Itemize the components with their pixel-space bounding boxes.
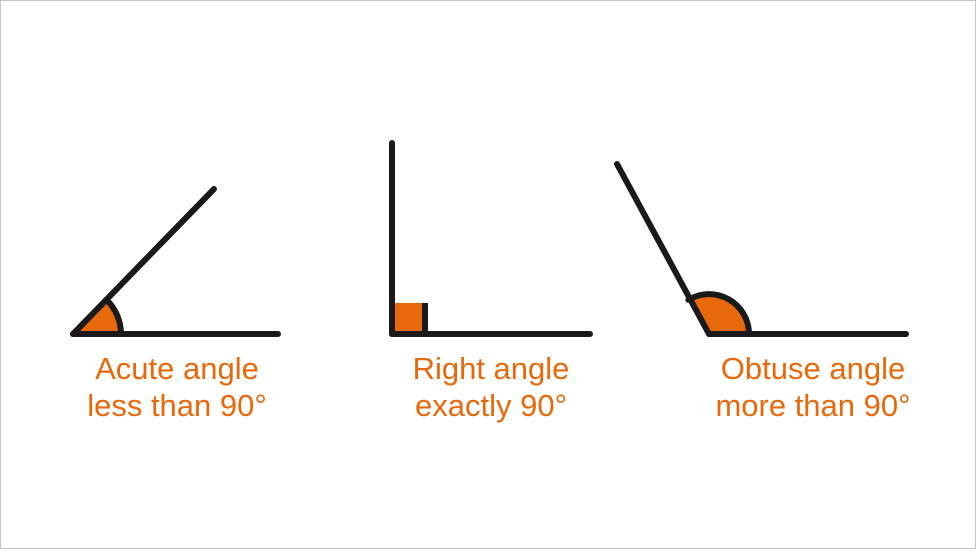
- right-angle-square-fill: [395, 303, 425, 334]
- obtuse-angle-drawing: [1, 1, 976, 549]
- acute-angle-caption: Acute angle less than 90°: [37, 350, 317, 424]
- acute-caption-line-1: Acute angle: [37, 350, 317, 387]
- obtuse-angle-fill: [688, 294, 749, 334]
- right-angle-figure: [1, 1, 976, 549]
- acute-ray-sloped: [73, 189, 214, 334]
- right-caption-line-1: Right angle: [351, 350, 631, 387]
- acute-angle-arc: [107, 300, 121, 334]
- angles-diagram-canvas: Acute angle less than 90° Right angle ex…: [0, 0, 976, 549]
- obtuse-angle-caption: Obtuse angle more than 90°: [673, 350, 953, 424]
- right-angle-caption: Right angle exactly 90°: [351, 350, 631, 424]
- obtuse-ray-sloped: [617, 164, 709, 334]
- acute-angle-figure: [1, 1, 976, 549]
- obtuse-angle-arc: [688, 294, 749, 334]
- acute-angle-fill: [73, 300, 121, 334]
- obtuse-angle-figure: [1, 1, 976, 549]
- right-caption-line-2: exactly 90°: [351, 387, 631, 424]
- acute-caption-line-2: less than 90°: [37, 387, 317, 424]
- acute-angle-drawing: [1, 1, 976, 549]
- right-angle-square-marker: [395, 303, 425, 334]
- obtuse-caption-line-2: more than 90°: [673, 387, 953, 424]
- right-angle-drawing: [1, 1, 976, 549]
- obtuse-caption-line-1: Obtuse angle: [673, 350, 953, 387]
